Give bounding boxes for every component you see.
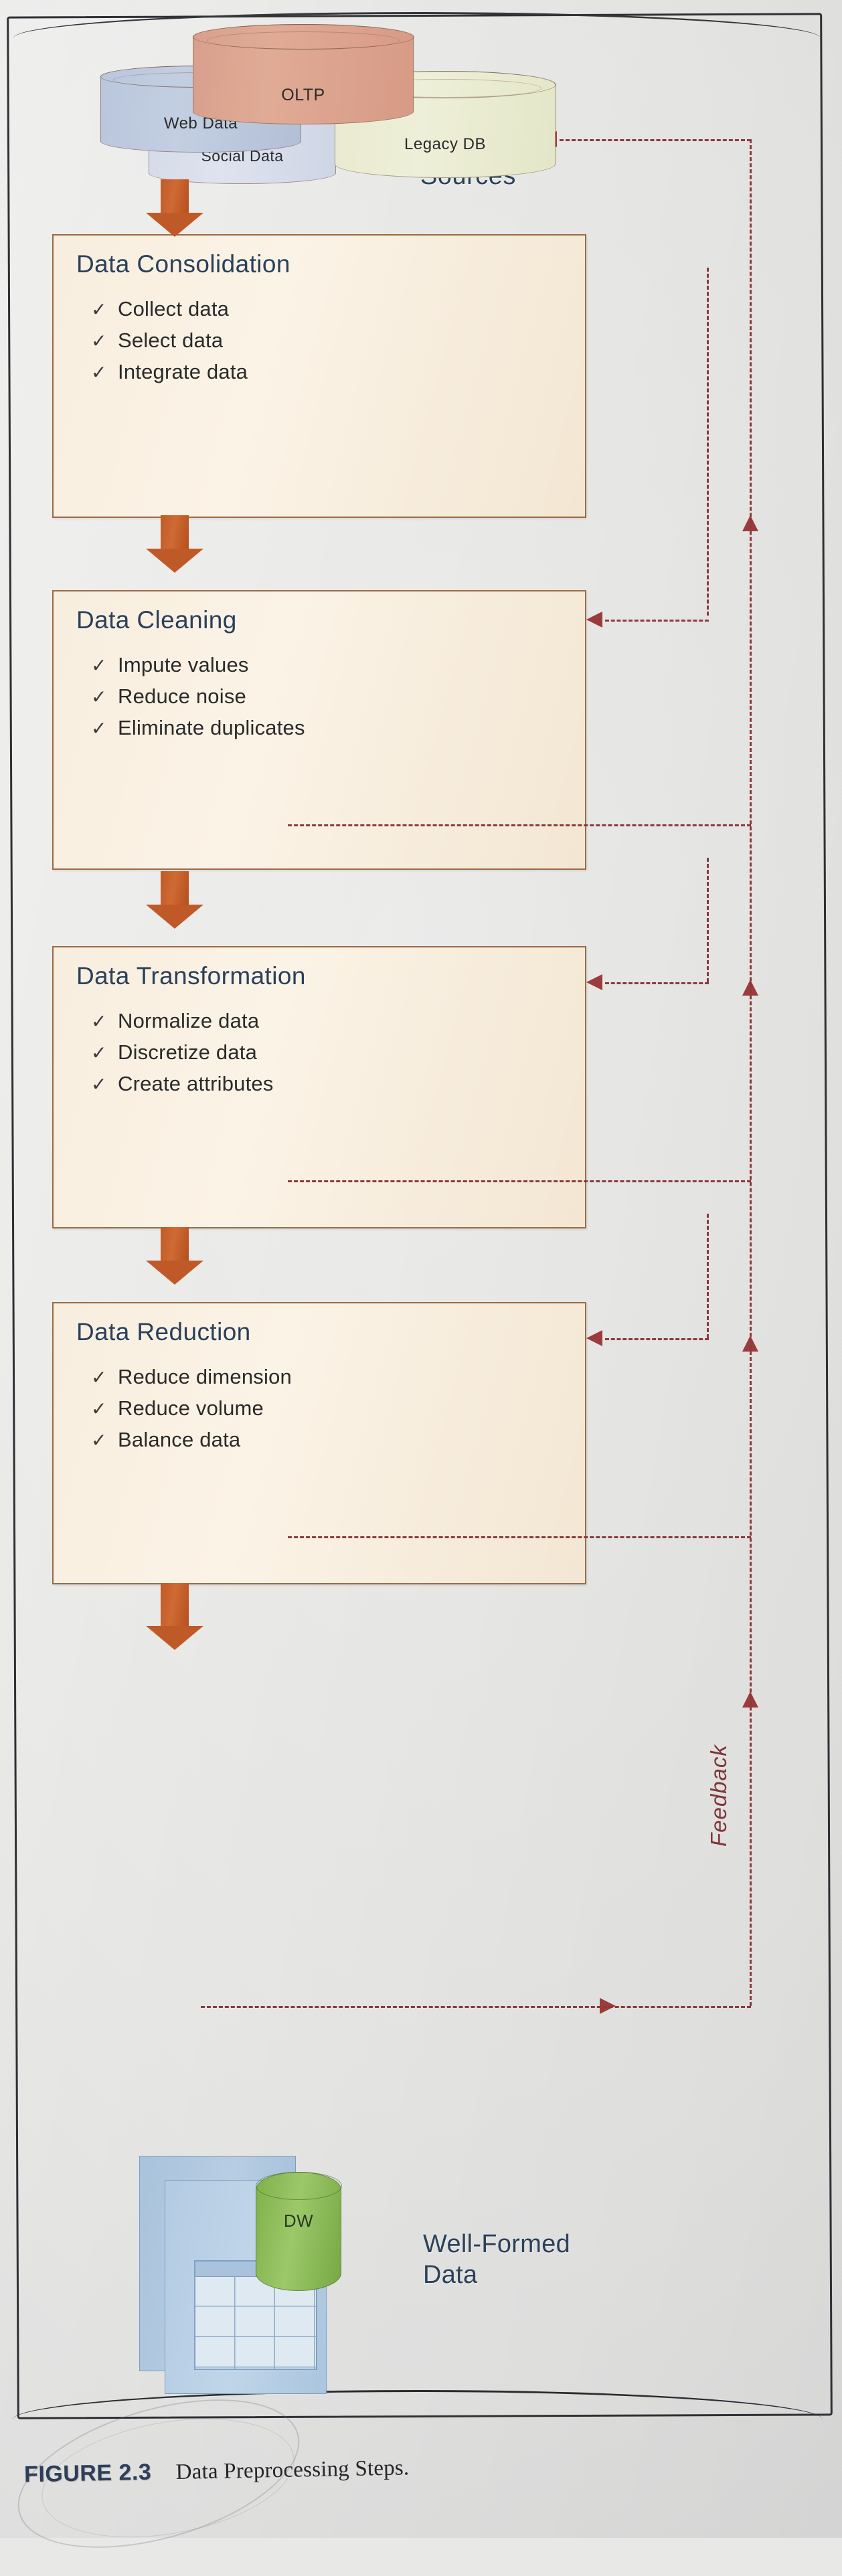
list-item: ✓Select data (91, 325, 248, 356)
feedback-arrowhead-left-icon-2 (586, 974, 602, 990)
cylinder-shape (193, 24, 414, 124)
well-formed-data-line2: Data (423, 2260, 704, 2291)
arrow-consolidation-to-cleaning (146, 515, 203, 573)
list-item: ✓Integrate data (91, 356, 248, 387)
feedback-arrowhead-left-icon-1 (586, 612, 602, 628)
list-item-label: Reduce dimension (118, 1365, 292, 1388)
arrow-reduction-to-warehouse (146, 1583, 203, 1650)
feedback-drop-to-consolidation (707, 268, 709, 616)
cylinder-oltp: OLTP (193, 24, 414, 124)
check-icon: ✓ (91, 359, 118, 387)
cylinder-label: DW (256, 2211, 341, 2231)
step-box-data-reduction[interactable]: Data Reduction ✓Reduce dimension ✓Reduce… (52, 1302, 586, 1584)
list-item-label: Reduce volume (118, 1396, 264, 1420)
list-item-label: Normalize data (118, 1009, 259, 1032)
feedback-into-legacy-db (560, 139, 751, 141)
arrow-shaft (161, 515, 189, 550)
list-item-label: Select data (118, 329, 223, 352)
list-item-label: Discretize data (118, 1040, 257, 1064)
list-item-label: Balance data (118, 1428, 240, 1451)
arrow-cleaning-to-transformation (146, 871, 203, 929)
check-icon: ✓ (91, 1008, 118, 1036)
check-icon: ✓ (91, 1427, 118, 1455)
check-icon: ✓ (91, 683, 118, 712)
cylinder-label: Legacy DB (335, 135, 556, 154)
cylinder-data-warehouse: DW (256, 2172, 341, 2291)
arrow-head-down-icon (146, 1626, 203, 1650)
arrow-sources-to-consolidation (146, 179, 203, 237)
check-icon: ✓ (91, 715, 118, 743)
list-item-label: Create attributes (118, 1072, 274, 1095)
arrow-head-down-icon (146, 213, 203, 237)
arrow-transformation-to-reduction (146, 1227, 203, 1285)
well-formed-data-line1: Well-Formed (423, 2229, 704, 2260)
check-icon: ✓ (91, 1039, 118, 1068)
feedback-line-bottom (201, 2006, 751, 2008)
feedback-tap-line-1 (288, 824, 751, 826)
arrow-shaft (161, 871, 189, 906)
step-item-list: ✓Normalize data ✓Discretize data ✓Create… (91, 1005, 274, 1099)
step-title: Data Consolidation (76, 250, 290, 278)
step-box-data-cleaning[interactable]: Data Cleaning ✓Impute values ✓Reduce noi… (52, 590, 586, 870)
feedback-tap-line-2 (288, 1180, 751, 1182)
list-item-label: Collect data (118, 297, 229, 320)
list-item-label: Reduce noise (118, 684, 246, 708)
step-item-list: ✓Collect data ✓Select data ✓Integrate da… (91, 293, 248, 387)
list-item: ✓Reduce noise (91, 680, 305, 712)
feedback-into-cleaning (605, 982, 709, 984)
feedback-tap-line-3 (288, 1536, 751, 1538)
feedback-into-transformation (605, 1338, 709, 1340)
list-item: ✓Reduce dimension (91, 1361, 292, 1392)
cylinder-label: OLTP (193, 86, 414, 105)
figure-number: FIGURE 2.3 (24, 2460, 152, 2488)
list-item-label: Impute values (118, 653, 249, 676)
list-item: ✓Normalize data (91, 1005, 274, 1036)
list-item-label: Integrate data (118, 360, 248, 383)
arrow-head-down-icon (146, 549, 203, 573)
arrow-head-down-icon (146, 905, 203, 929)
feedback-drop-to-transformation (707, 1214, 709, 1338)
step-item-list: ✓Impute values ✓Reduce noise ✓Eliminate … (91, 649, 305, 743)
check-icon: ✓ (91, 296, 118, 325)
cylinder-shape (256, 2172, 341, 2291)
arrow-shaft (161, 179, 189, 214)
list-item: ✓Impute values (91, 649, 305, 680)
feedback-line-spine (750, 139, 752, 2006)
arrow-head-down-icon (146, 1261, 203, 1285)
check-icon: ✓ (91, 652, 118, 680)
step-box-data-transformation[interactable]: Data Transformation ✓Normalize data ✓Dis… (52, 946, 586, 1228)
step-title: Data Transformation (76, 962, 306, 990)
check-icon: ✓ (91, 1364, 118, 1392)
feedback-arrowhead-left-icon-3 (586, 1330, 602, 1346)
check-icon: ✓ (91, 1071, 118, 1099)
step-title: Data Reduction (76, 1318, 251, 1346)
feedback-into-consolidation (605, 620, 709, 622)
list-item: ✓Discretize data (91, 1036, 274, 1068)
figure-caption-text: Data Preprocessing Steps. (175, 2456, 409, 2485)
step-title: Data Cleaning (76, 606, 237, 634)
list-item: ✓Reduce volume (91, 1392, 292, 1424)
step-item-list: ✓Reduce dimension ✓Reduce volume ✓Balanc… (91, 1361, 292, 1455)
feedback-label: Feedback (706, 1744, 732, 1847)
list-item: ✓Collect data (91, 293, 248, 325)
step-box-data-consolidation[interactable]: Data Consolidation ✓Collect data ✓Select… (52, 234, 586, 518)
feedback-drop-to-cleaning (707, 858, 709, 982)
list-item: ✓Balance data (91, 1424, 292, 1455)
check-icon: ✓ (91, 327, 118, 356)
list-item: ✓Create attributes (91, 1068, 274, 1099)
list-item: ✓Eliminate duplicates (91, 712, 305, 743)
list-item-label: Eliminate duplicates (118, 716, 305, 739)
arrow-shaft (161, 1227, 189, 1262)
arrow-shaft (161, 1583, 189, 1627)
check-icon: ✓ (91, 1395, 118, 1424)
well-formed-data-label: Well-Formed Data (423, 2229, 704, 2290)
